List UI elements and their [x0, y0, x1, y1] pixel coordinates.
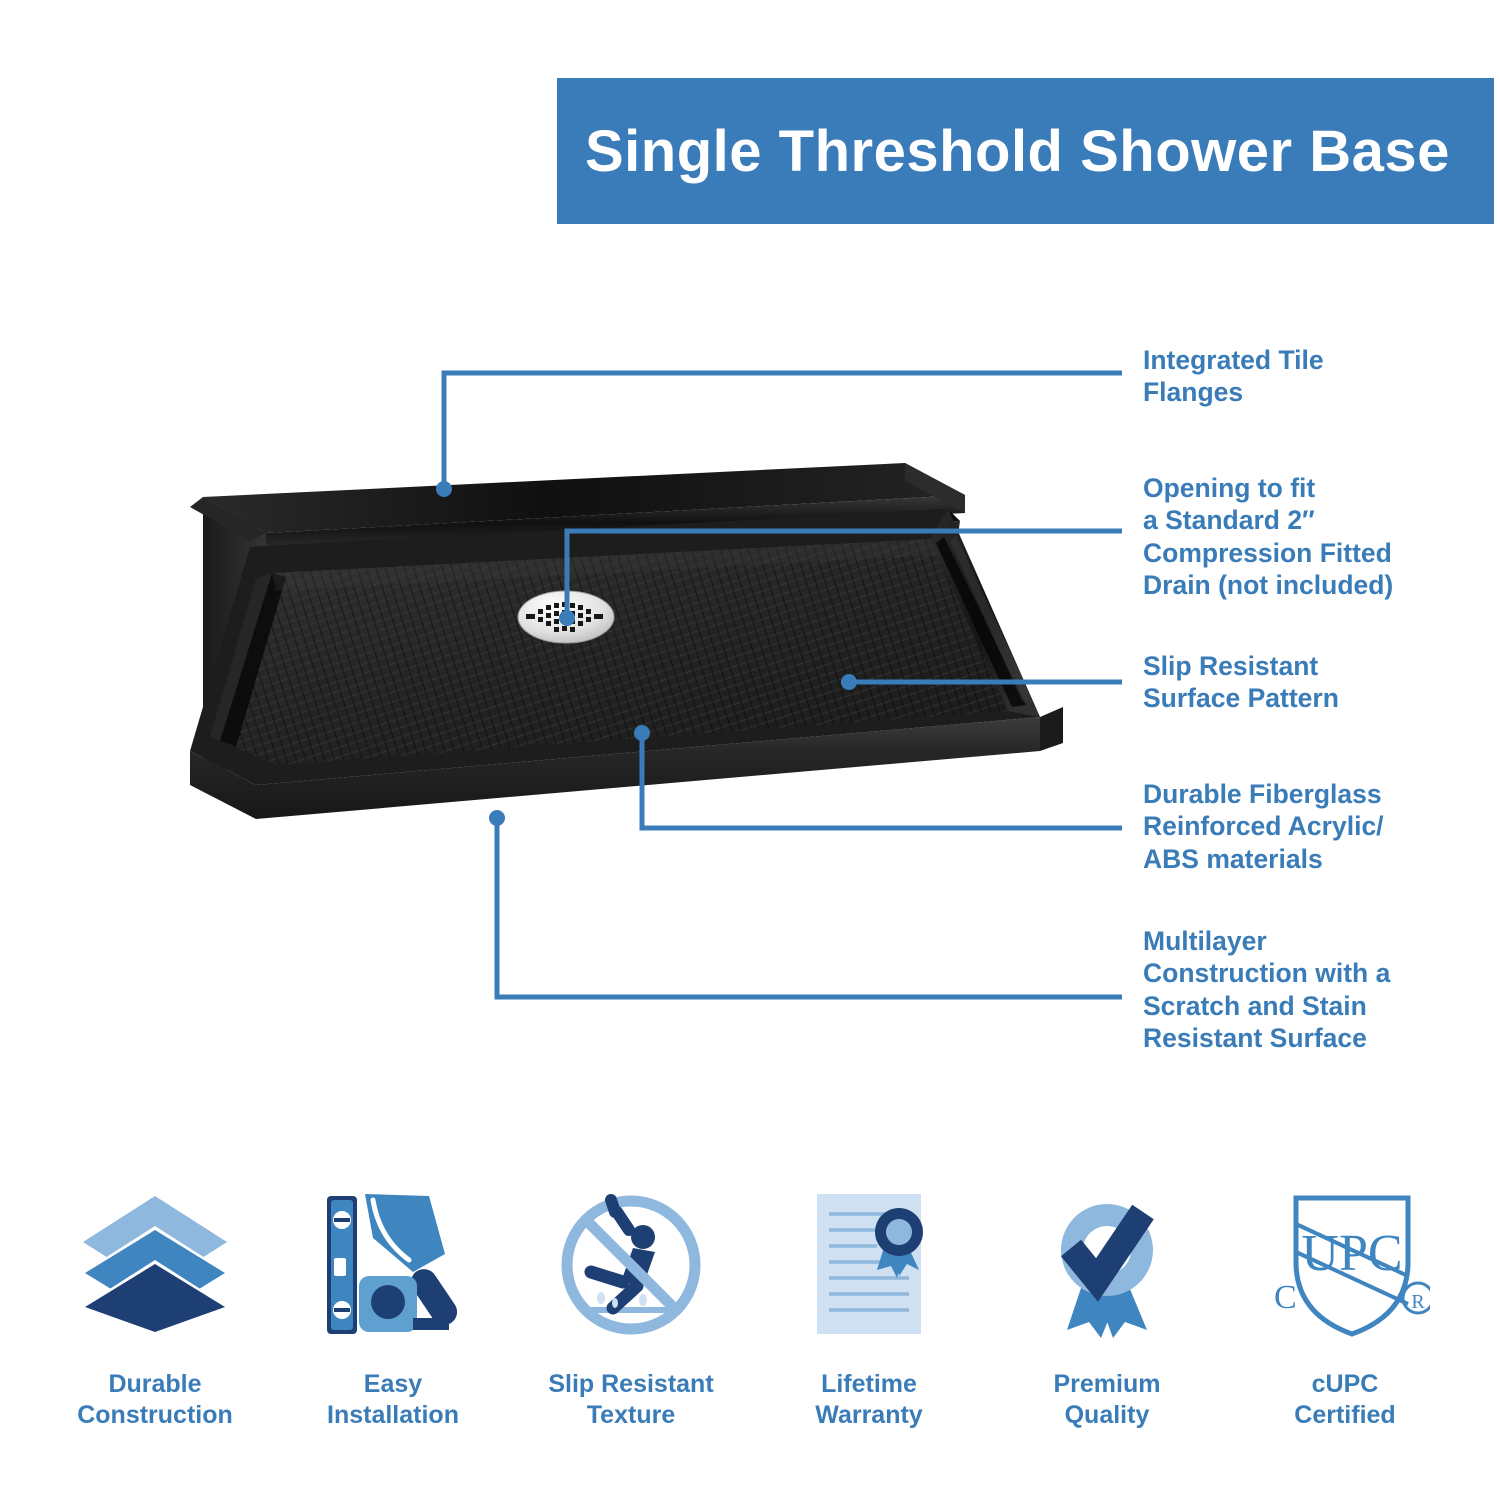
- feature-label-line: cUPC: [1294, 1369, 1395, 1400]
- feature-label-line: Certified: [1294, 1400, 1395, 1431]
- feature-label: cUPC Certified: [1294, 1369, 1395, 1432]
- no-slip-icon: [546, 1185, 716, 1345]
- title-banner: Single Threshold Shower Base: [557, 78, 1494, 224]
- callout-line: Surface Pattern: [1143, 682, 1443, 714]
- callout-line: ABS materials: [1143, 843, 1443, 875]
- feature-label-line: Texture: [548, 1400, 713, 1431]
- callout-line: Reinforced Acrylic/: [1143, 810, 1443, 842]
- level-trowel-icon: [308, 1185, 478, 1345]
- feature-cupc-certified: UPC C R cUPC Certified: [1230, 1185, 1460, 1432]
- infographic-canvas: Single Threshold Shower Base: [0, 0, 1500, 1500]
- callout-line: Drain (not included): [1143, 569, 1443, 601]
- feature-lifetime-warranty: Lifetime Warranty: [754, 1185, 984, 1432]
- feature-premium-quality: Premium Quality: [992, 1185, 1222, 1432]
- warranty-doc-icon: [784, 1185, 954, 1345]
- feature-slip-resistant-texture: Slip Resistant Texture: [516, 1185, 746, 1432]
- callout-line: Resistant Surface: [1143, 1022, 1443, 1054]
- feature-label: Easy Installation: [327, 1369, 459, 1432]
- cupc-shield-icon: UPC C R: [1260, 1185, 1430, 1345]
- feature-label-line: Easy: [327, 1369, 459, 1400]
- feature-label-line: Premium: [1054, 1369, 1161, 1400]
- svg-text:UPC: UPC: [1301, 1225, 1402, 1282]
- feature-label: Premium Quality: [1054, 1369, 1161, 1432]
- callout-label-multilayer-construction: Multilayer Construction with a Scratch a…: [1143, 925, 1443, 1054]
- callout-line: a Standard 2″: [1143, 504, 1443, 536]
- feature-easy-installation: Easy Installation: [278, 1185, 508, 1432]
- feature-durable-construction: Durable Construction: [40, 1185, 270, 1432]
- feature-label: Slip Resistant Texture: [548, 1369, 713, 1432]
- callout-line: Scratch and Stain: [1143, 990, 1443, 1022]
- page-title: Single Threshold Shower Base: [557, 118, 1450, 185]
- feature-label-line: Warranty: [815, 1400, 922, 1431]
- feature-label: Durable Construction: [77, 1369, 233, 1432]
- feature-label: Lifetime Warranty: [815, 1369, 922, 1432]
- callout-label-integrated-tile-flanges: Integrated Tile Flanges: [1143, 344, 1443, 409]
- callout-line: Integrated Tile: [1143, 344, 1443, 376]
- check-rosette-icon: [1022, 1185, 1192, 1345]
- callout-label-slip-resistant-surface: Slip Resistant Surface Pattern: [1143, 650, 1443, 715]
- svg-text:R: R: [1411, 1291, 1425, 1313]
- callout-label-drain-opening: Opening to fit a Standard 2″ Compression…: [1143, 472, 1443, 601]
- callout-line: Slip Resistant: [1143, 650, 1443, 682]
- layers-icon: [70, 1185, 240, 1345]
- feature-label-line: Durable: [77, 1369, 233, 1400]
- callout-line: Opening to fit: [1143, 472, 1443, 504]
- product-image: [60, 455, 1070, 855]
- callout-label-durable-fiberglass: Durable Fiberglass Reinforced Acrylic/ A…: [1143, 778, 1443, 875]
- feature-label-line: Lifetime: [815, 1369, 922, 1400]
- feature-label-line: Quality: [1054, 1400, 1161, 1431]
- callout-line: Construction with a: [1143, 957, 1443, 989]
- feature-label-line: Construction: [77, 1400, 233, 1431]
- feature-strip: Durable Construction: [40, 1185, 1460, 1465]
- feature-label-line: Installation: [327, 1400, 459, 1431]
- callout-line: Multilayer: [1143, 925, 1443, 957]
- callout-line: Flanges: [1143, 376, 1443, 408]
- svg-text:C: C: [1274, 1279, 1297, 1316]
- feature-label-line: Slip Resistant: [548, 1369, 713, 1400]
- callout-line: Compression Fitted: [1143, 537, 1443, 569]
- callout-line: Durable Fiberglass: [1143, 778, 1443, 810]
